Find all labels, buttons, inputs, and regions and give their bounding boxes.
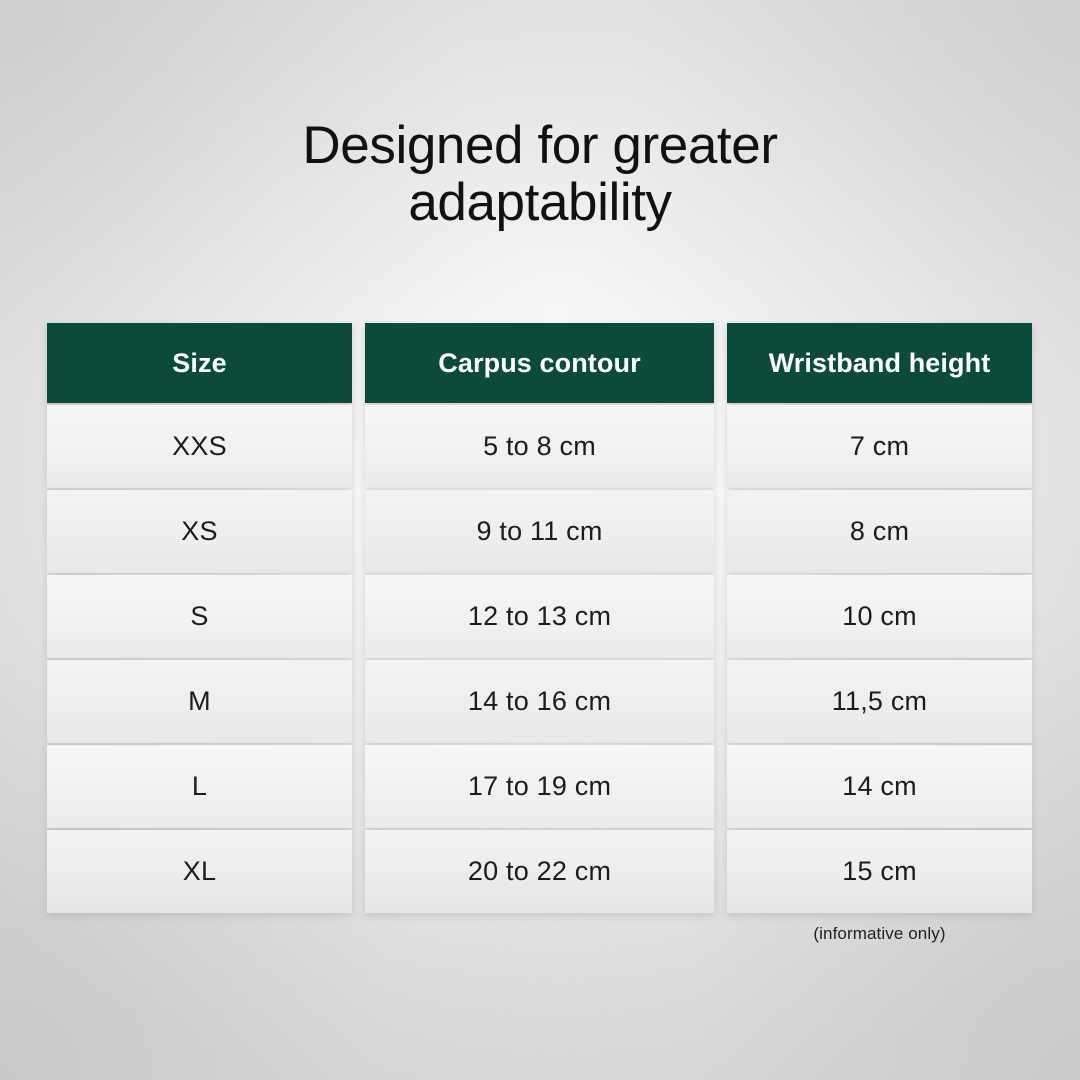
size-table: Size Carpus contour Wristband height XXS… <box>47 323 1032 915</box>
column-header-size: Size <box>47 323 352 403</box>
cell-wristband-height: 14 cm <box>727 745 1032 828</box>
footnote-informative-only: (informative only) <box>727 924 1032 944</box>
table-row: S 12 to 13 cm 10 cm <box>47 575 1032 658</box>
cell-wristband-height: 7 cm <box>727 405 1032 488</box>
cell-wristband-height: 10 cm <box>727 575 1032 658</box>
table-row: XXS 5 to 8 cm 7 cm <box>47 405 1032 488</box>
cell-size: M <box>47 660 352 743</box>
cell-carpus-contour: 9 to 11 cm <box>365 490 714 573</box>
cell-size: XXS <box>47 405 352 488</box>
table-row: L 17 to 19 cm 14 cm <box>47 745 1032 828</box>
table-header-row: Size Carpus contour Wristband height <box>47 323 1032 403</box>
cell-carpus-contour: 14 to 16 cm <box>365 660 714 743</box>
cell-wristband-height: 11,5 cm <box>727 660 1032 743</box>
cell-carpus-contour: 12 to 13 cm <box>365 575 714 658</box>
cell-wristband-height: 15 cm <box>727 830 1032 913</box>
cell-size: XS <box>47 490 352 573</box>
table-row: XS 9 to 11 cm 8 cm <box>47 490 1032 573</box>
column-header-wristband-height: Wristband height <box>727 323 1032 403</box>
size-chart-graphic: Designed for greater adaptability Size C… <box>0 0 1080 1080</box>
cell-carpus-contour: 20 to 22 cm <box>365 830 714 913</box>
column-header-carpus-contour: Carpus contour <box>365 323 714 403</box>
cell-size: XL <box>47 830 352 913</box>
table-row: XL 20 to 22 cm 15 cm <box>47 830 1032 913</box>
cell-size: S <box>47 575 352 658</box>
cell-carpus-contour: 17 to 19 cm <box>365 745 714 828</box>
table-row: M 14 to 16 cm 11,5 cm <box>47 660 1032 743</box>
cell-wristband-height: 8 cm <box>727 490 1032 573</box>
cell-carpus-contour: 5 to 8 cm <box>365 405 714 488</box>
page-title: Designed for greater adaptability <box>0 118 1080 231</box>
cell-size: L <box>47 745 352 828</box>
